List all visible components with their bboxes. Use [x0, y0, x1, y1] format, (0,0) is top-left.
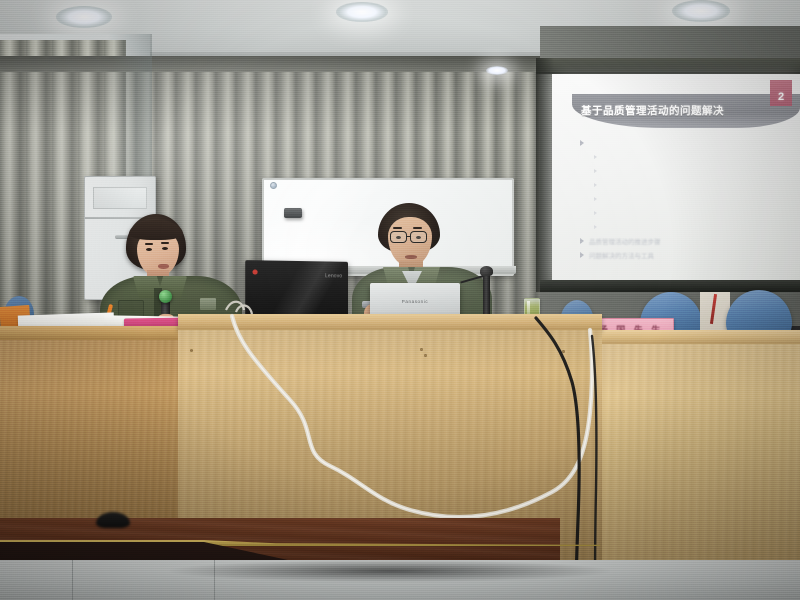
slide-bullet [594, 164, 792, 177]
slide-bullet: 品质管理活动的推进步骤 [580, 234, 792, 247]
eye [146, 248, 152, 251]
slide-bullet [594, 150, 792, 163]
panel-screw [562, 350, 565, 353]
conference-room-photo: 基于品质管理活动的问题解决 2 [0, 0, 800, 600]
panel-screw [424, 354, 427, 357]
slide-number-badge: 2 [770, 80, 792, 106]
eyebrow [413, 227, 422, 229]
eyebrow [145, 243, 153, 245]
under-desk-shadow [170, 560, 610, 582]
presentation-slide: 基于品质管理活动的问题解决 2 [552, 74, 800, 280]
podium-top-rail [178, 314, 602, 330]
slide-body: 品质管理活动的推进步骤 问题解决的方法与工具 [580, 136, 792, 262]
whiteboard-eraser [284, 208, 302, 218]
glasses-bridge [407, 236, 411, 237]
bullet-triangle-icon [594, 225, 597, 229]
bullet-triangle-icon [594, 211, 597, 215]
ceiling-downlight-icon [56, 6, 112, 28]
bullet-triangle-icon [594, 197, 597, 201]
panel-screw [420, 348, 423, 351]
microphone-head-icon [480, 266, 493, 276]
bullet-triangle-icon [594, 155, 597, 159]
eyebrow [393, 227, 402, 229]
projection-screen: 基于品质管理活动的问题解决 2 [552, 74, 800, 280]
mouth [158, 264, 169, 269]
eye [162, 247, 168, 250]
magnet-icon [270, 182, 277, 189]
slide-number: 2 [778, 91, 784, 106]
arm-badge [200, 298, 216, 310]
ceiling-downlight-icon [672, 0, 730, 22]
wall-light-glint-icon [486, 66, 508, 75]
cabinet-vent [93, 187, 147, 209]
glasses-icon [410, 231, 427, 243]
slide-bullet: 问题解决的方法与工具 [580, 248, 792, 261]
tile-seam [72, 560, 73, 600]
bullet-triangle-icon [580, 252, 584, 258]
slide-bullet-text: 问题解决的方法与工具 [589, 250, 654, 260]
microphone-head-icon [159, 290, 172, 303]
ceiling-downlight-icon [336, 2, 388, 22]
panasonic-logo: Panasonic [402, 299, 428, 304]
bullet-triangle-icon [594, 183, 597, 187]
slide-bullet [580, 136, 792, 149]
slide-bullet [594, 220, 792, 233]
slide-bullet [594, 206, 792, 219]
mouth [405, 255, 417, 259]
slide-bullet [594, 178, 792, 191]
bullet-triangle-icon [580, 238, 584, 244]
glasses-icon [390, 231, 407, 243]
shoe [96, 512, 130, 528]
bullet-triangle-icon [580, 140, 584, 146]
bullet-triangle-icon [594, 169, 597, 173]
right-desk-top [600, 330, 800, 344]
hair-fringe [129, 220, 183, 240]
slide-bullet-text: 品质管理活动的推进步骤 [589, 236, 661, 246]
panel-screw [190, 349, 193, 352]
eyebrow [161, 242, 169, 244]
projector-screen-housing [536, 58, 800, 74]
slide-bullet [594, 192, 792, 205]
slide-title: 基于品质管理活动的问题解决 [581, 103, 771, 118]
